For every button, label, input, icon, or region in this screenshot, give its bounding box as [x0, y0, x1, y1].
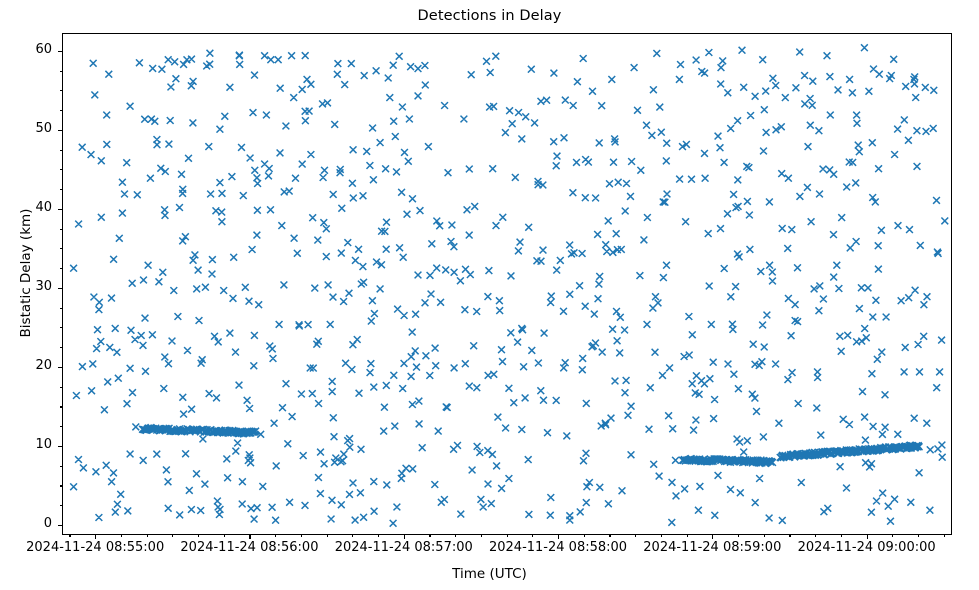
x-minor-tick: [327, 535, 328, 537]
plot-axes: [62, 33, 952, 535]
x-axis-label: Time (UTC): [0, 566, 979, 582]
x-minor-tick: [455, 535, 456, 537]
y-tick-mark: [58, 446, 62, 447]
x-tick-mark: [249, 535, 250, 539]
y-minor-tick: [60, 189, 62, 190]
y-minor-tick: [60, 327, 62, 328]
x-minor-tick: [918, 535, 919, 537]
y-tick-label: 0: [6, 516, 52, 531]
x-minor-tick: [609, 535, 610, 537]
x-minor-tick: [121, 535, 122, 537]
y-minor-tick: [60, 426, 62, 427]
x-tick-mark: [558, 535, 559, 539]
y-tick-mark: [58, 525, 62, 526]
x-minor-tick: [301, 535, 302, 537]
x-minor-tick: [764, 535, 765, 537]
x-minor-tick: [789, 535, 790, 537]
y-minor-tick: [60, 248, 62, 249]
x-minor-tick: [635, 535, 636, 537]
x-minor-tick: [532, 535, 533, 537]
x-minor-tick: [841, 535, 842, 537]
y-minor-tick: [60, 505, 62, 506]
x-tick-mark: [867, 535, 868, 539]
y-minor-tick: [60, 387, 62, 388]
y-tick-mark: [58, 209, 62, 210]
x-tick-mark: [712, 535, 713, 539]
x-minor-tick: [944, 535, 945, 537]
x-minor-tick: [892, 535, 893, 537]
y-minor-tick: [60, 229, 62, 230]
y-minor-tick: [60, 90, 62, 91]
y-minor-tick: [60, 466, 62, 467]
y-tick-label: 50: [6, 121, 52, 136]
scatter-series: [63, 34, 952, 535]
y-minor-tick: [60, 169, 62, 170]
y-tick-mark: [58, 367, 62, 368]
x-minor-tick: [198, 535, 199, 537]
y-tick-mark: [58, 130, 62, 131]
x-minor-tick: [815, 535, 816, 537]
x-minor-tick: [275, 535, 276, 537]
x-tick-mark: [95, 535, 96, 539]
x-minor-tick: [352, 535, 353, 537]
x-minor-tick: [172, 535, 173, 537]
x-minor-tick: [738, 535, 739, 537]
x-tick-label: 2024-11-24 09:00:00: [767, 540, 967, 555]
y-tick-mark: [58, 288, 62, 289]
x-minor-tick: [687, 535, 688, 537]
y-minor-tick: [60, 406, 62, 407]
y-minor-tick: [60, 110, 62, 111]
y-tick-label: 60: [6, 42, 52, 57]
x-minor-tick: [378, 535, 379, 537]
scatter-markers: [70, 44, 948, 526]
y-axis-label: Bistatic Delay (km): [18, 143, 34, 403]
page-title: Detections in Delay: [0, 8, 979, 24]
x-minor-tick: [147, 535, 148, 537]
x-minor-tick: [584, 535, 585, 537]
matplotlib-figure: Detections in Delay 0102030405060 2024-1…: [0, 0, 979, 590]
x-minor-tick: [69, 535, 70, 537]
y-minor-tick: [60, 347, 62, 348]
x-minor-tick: [481, 535, 482, 537]
y-minor-tick: [60, 308, 62, 309]
y-minor-tick: [60, 485, 62, 486]
y-tick-label: 10: [6, 437, 52, 452]
x-minor-tick: [661, 535, 662, 537]
y-minor-tick: [60, 150, 62, 151]
x-tick-mark: [404, 535, 405, 539]
y-minor-tick: [60, 71, 62, 72]
x-minor-tick: [429, 535, 430, 537]
x-minor-tick: [224, 535, 225, 537]
x-minor-tick: [507, 535, 508, 537]
y-minor-tick: [60, 268, 62, 269]
y-tick-mark: [58, 51, 62, 52]
